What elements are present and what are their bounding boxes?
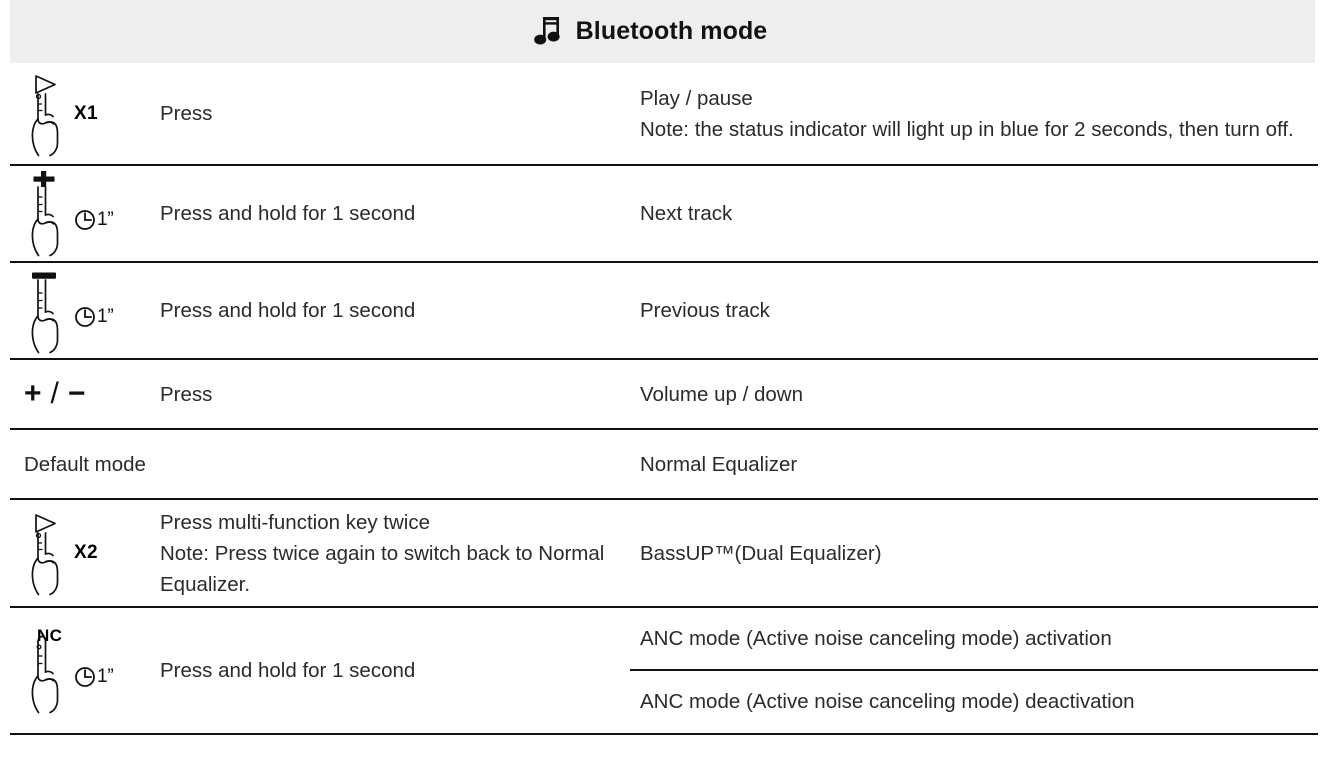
clock-icon [74, 306, 96, 328]
shortcuts-table: X1 Press Play / pause Note: the status i… [10, 63, 1318, 735]
result-line: Previous track [640, 295, 1318, 326]
row-result-cell: Play / pause Note: the status indicator … [630, 63, 1318, 164]
result-subrow-activation: ANC mode (Active noise canceling mode) a… [630, 608, 1318, 671]
press-count-badge: X2 [74, 542, 98, 564]
pointing-hand-icon [24, 71, 70, 157]
row-result-cell: BassUP™(Dual Equalizer) [630, 500, 1318, 606]
plus-minus-icon: + / − [24, 377, 85, 411]
hand-press-twice-icon: X2 [24, 510, 98, 596]
press-count-badge: X1 [74, 103, 98, 125]
row-result-split-cell: ANC mode (Active noise canceling mode) a… [630, 608, 1318, 733]
minus-icon: − [68, 377, 86, 411]
action-line: Press and hold for 1 second [160, 655, 630, 686]
table-row: NC [10, 608, 1318, 735]
row-action-cell: Press and hold for 1 second [150, 608, 630, 733]
row-result-cell: Previous track [630, 263, 1318, 358]
table-row: 1” Press and hold for 1 second Next trac… [10, 166, 1318, 263]
hold-duration-label: 1” [97, 666, 114, 688]
action-line: Press multi-function key twice [160, 507, 630, 538]
slash-separator: / [51, 377, 59, 411]
clock-icon [74, 666, 96, 688]
clock-icon [74, 209, 96, 231]
hold-duration: 1” [74, 306, 114, 328]
result-note: Note: the status indicator will light up… [640, 114, 1318, 145]
action-note: Note: Press twice again to switch back t… [160, 538, 630, 600]
row-result-cell: Next track [630, 166, 1318, 261]
hand-press-icon: X1 [24, 71, 98, 157]
hold-duration: 1” [74, 666, 114, 688]
row-action-cell: Press and hold for 1 second [150, 166, 630, 261]
hand-hold-nc-icon: NC [24, 628, 114, 714]
hand-hold-plus-icon: 1” [24, 171, 114, 257]
result-line: Play / pause [640, 83, 1318, 114]
pointing-hand-minus-icon [24, 268, 70, 354]
nc-badge: NC [37, 626, 62, 646]
result-subrow-deactivation: ANC mode (Active noise canceling mode) d… [630, 671, 1318, 734]
row-icon-cell: 1” [10, 166, 150, 261]
action-line: Press and hold for 1 second [160, 295, 630, 326]
plus-icon: + [24, 377, 42, 411]
pointing-hand-plus-icon [24, 171, 70, 257]
music-note-icon [534, 15, 564, 49]
row-action-cell: Press [150, 360, 630, 428]
hold-duration-label: 1” [97, 306, 114, 328]
bluetooth-mode-table-page: Bluetooth mode [0, 0, 1329, 762]
hold-duration: 1” [74, 209, 114, 231]
table-row: X1 Press Play / pause Note: the status i… [10, 63, 1318, 166]
table-row: X2 Press multi-function key twice Note: … [10, 500, 1318, 608]
table-row-default-mode: Default mode Normal Equalizer [10, 430, 1318, 500]
result-line: Volume up / down [640, 379, 1318, 410]
row-icon-cell: X2 [10, 500, 150, 606]
row-icon-cell: X1 [10, 63, 150, 164]
row-icon-cell: 1” [10, 263, 150, 358]
row-icon-cell: NC [10, 608, 150, 733]
result-line: BassUP™(Dual Equalizer) [640, 538, 1318, 569]
default-mode-label-cell: Default mode [10, 430, 630, 498]
result-line: ANC mode (Active noise canceling mode) a… [640, 623, 1112, 654]
mode-header: Bluetooth mode [10, 0, 1315, 63]
row-action-cell: Press multi-function key twice Note: Pre… [150, 500, 630, 606]
result-line: ANC mode (Active noise canceling mode) d… [640, 686, 1135, 717]
row-result-cell: Normal Equalizer [630, 430, 1318, 498]
row-result-cell: Volume up / down [630, 360, 1318, 428]
table-row: + / − Press Volume up / down [10, 360, 1318, 430]
result-line: Normal Equalizer [640, 449, 1318, 480]
action-line: Press [160, 379, 630, 410]
default-mode-label: Default mode [24, 449, 146, 480]
action-line: Press [160, 98, 630, 129]
mode-header-inner: Bluetooth mode [534, 15, 768, 49]
hold-duration-label: 1” [97, 209, 114, 231]
pointing-hand-icon [24, 510, 70, 596]
table-row: 1” Press and hold for 1 second Previous … [10, 263, 1318, 360]
row-action-cell: Press and hold for 1 second [150, 263, 630, 358]
hand-hold-minus-icon: 1” [24, 268, 114, 354]
row-action-cell: Press [150, 63, 630, 164]
result-line: Next track [640, 198, 1318, 229]
mode-title: Bluetooth mode [576, 17, 768, 46]
row-icon-cell: + / − [10, 360, 150, 428]
action-line: Press and hold for 1 second [160, 198, 630, 229]
